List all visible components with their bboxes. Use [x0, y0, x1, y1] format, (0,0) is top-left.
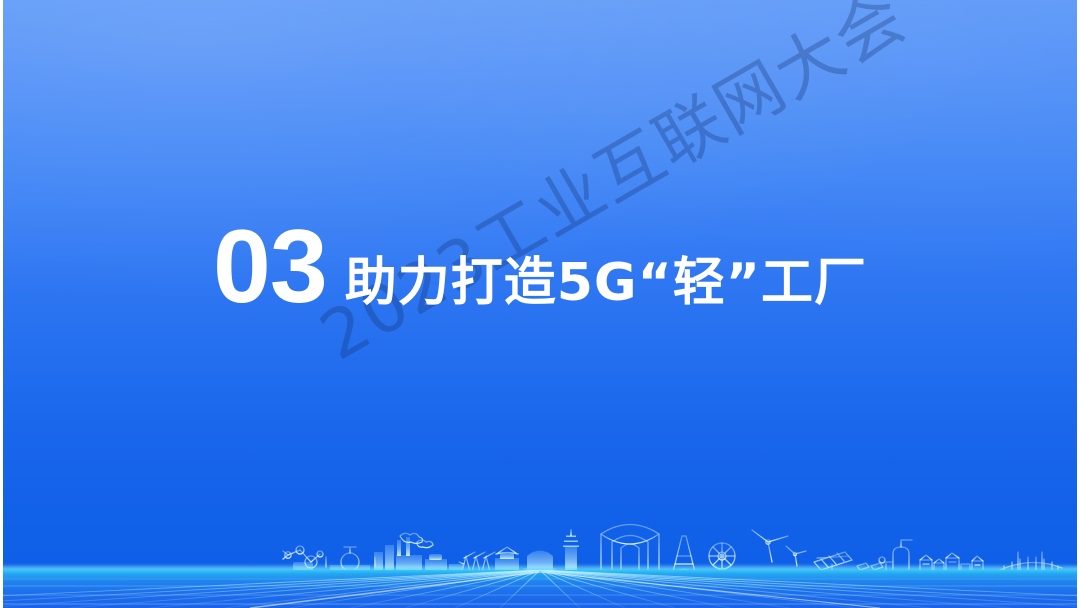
ground-perspective-grid [0, 570, 1080, 608]
background-gradient [0, 0, 1080, 608]
page-edge-left [0, 0, 3, 608]
slide-root: 2023工业互联网大会 03 助力打造5G“轻”工厂 [0, 0, 1080, 608]
ground-plane [0, 570, 1080, 608]
